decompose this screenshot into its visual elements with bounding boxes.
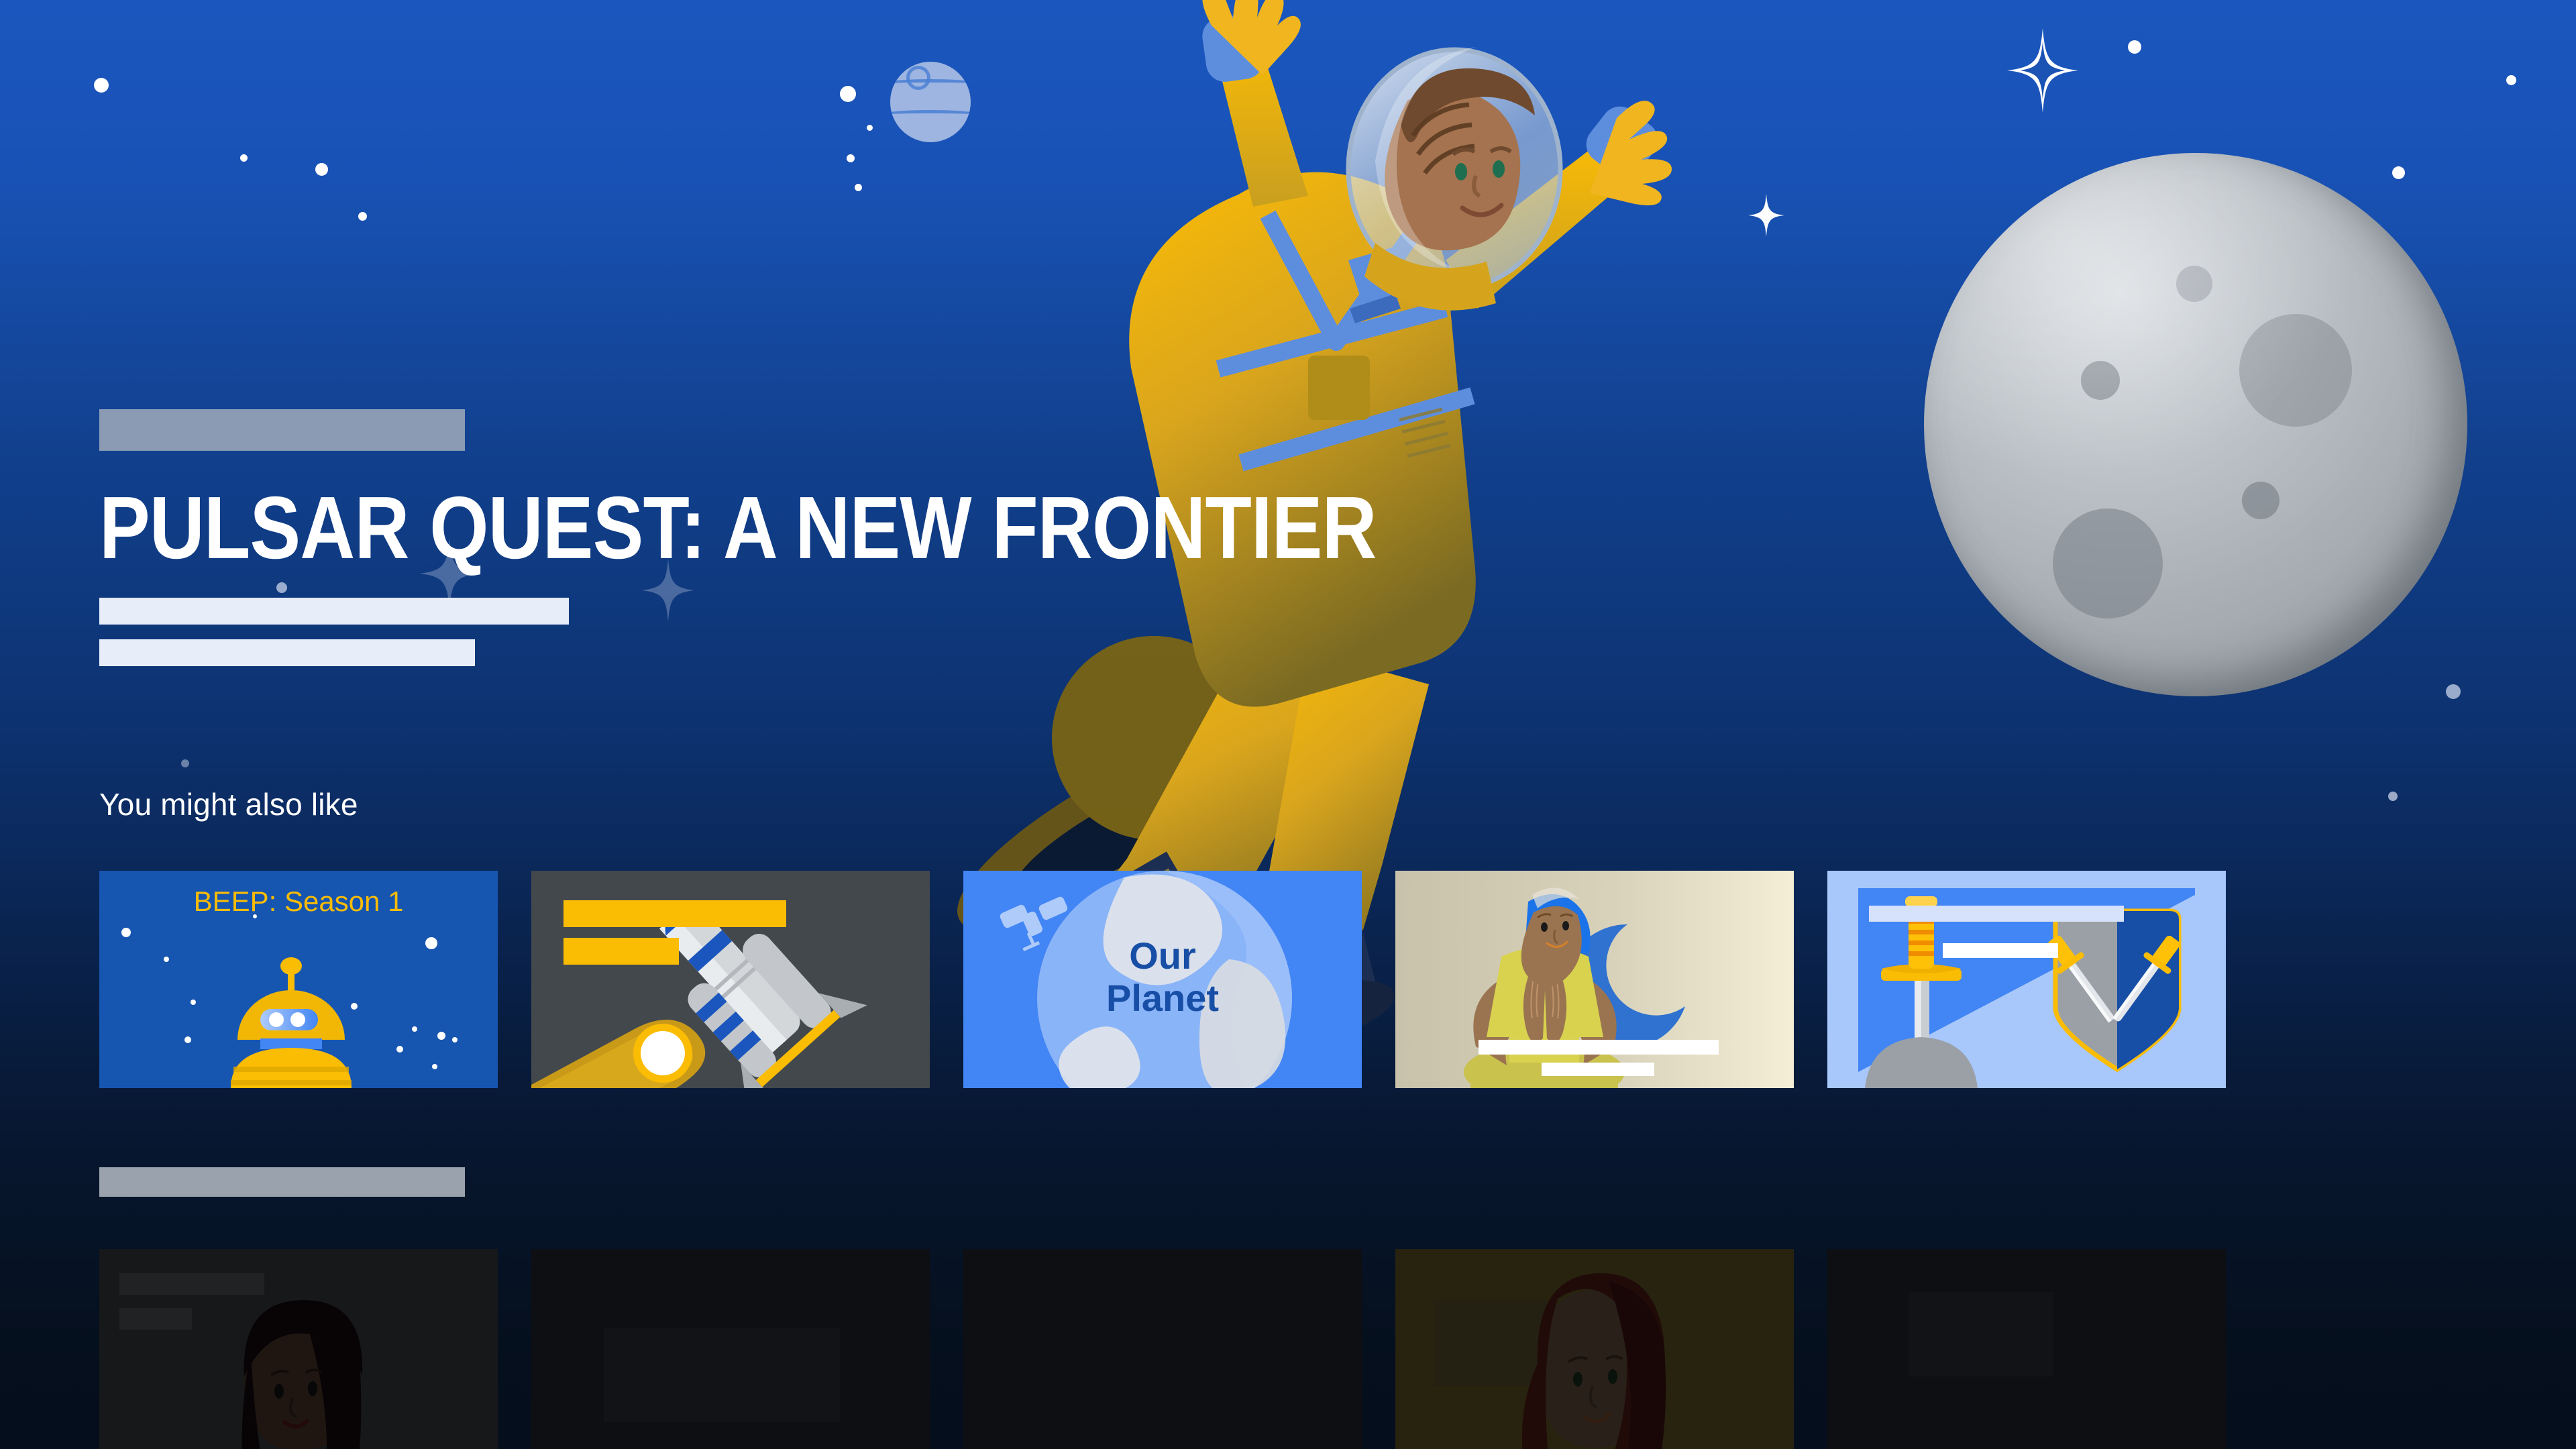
card-portrait-dark-hair[interactable] <box>99 1249 498 1449</box>
star <box>358 212 367 221</box>
card-rocket-launch[interactable] <box>531 871 930 1088</box>
section-heading-recommendations: You might also like <box>99 786 358 822</box>
card-placeholder-b[interactable] <box>963 1249 1362 1449</box>
card-beep-season-1[interactable]: BEEP: Season 1 <box>99 871 498 1088</box>
card-artwork-placeholder-a <box>531 1249 930 1449</box>
card-artwork-placeholder-c <box>1827 1249 2226 1449</box>
card-portrait-red-hair[interactable] <box>1395 1249 1794 1449</box>
section-heading-skeleton <box>99 1167 465 1197</box>
hero-skeleton-line-2 <box>99 639 475 666</box>
star <box>2388 792 2398 801</box>
recommendations-row[interactable]: BEEP: Season 1 <box>99 871 2226 1088</box>
card-artwork-rocket <box>531 871 930 1088</box>
card-our-planet[interactable]: Our Planet <box>963 871 1362 1088</box>
card-title-beep: BEEP: Season 1 <box>99 885 498 918</box>
card-artwork-sword-shield <box>1827 871 2226 1088</box>
hero-block: PULSAR QUEST: A NEW FRONTIER <box>99 409 2045 666</box>
card-placeholder-a[interactable] <box>531 1249 930 1449</box>
star <box>94 78 109 93</box>
star <box>240 154 248 162</box>
star <box>2446 684 2461 699</box>
hero-skeleton-bar-top <box>99 409 465 451</box>
card-artwork-meditation <box>1395 871 1794 1088</box>
card-meditation[interactable] <box>1395 871 1794 1088</box>
card-placeholder-c[interactable] <box>1827 1249 2226 1449</box>
star <box>181 759 189 767</box>
sparkle-icon <box>2006 27 2080 114</box>
star <box>2392 166 2405 179</box>
card-artwork-placeholder-b <box>963 1249 1362 1449</box>
media-hero-page: PULSAR QUEST: A NEW FRONTIER You might a… <box>0 0 2576 1449</box>
card-artwork-portrait-a <box>99 1249 498 1449</box>
card-sword-and-shield[interactable] <box>1827 871 2226 1088</box>
second-row[interactable] <box>99 1249 2226 1449</box>
hero-skeleton-line-1 <box>99 598 569 625</box>
star <box>2506 75 2516 85</box>
card-title-our-planet: Our Planet <box>1095 935 1230 1019</box>
star <box>315 163 328 176</box>
star <box>2128 40 2141 54</box>
page-title: PULSAR QUEST: A NEW FRONTIER <box>99 483 1772 574</box>
card-artwork-portrait-b <box>1395 1249 1794 1449</box>
